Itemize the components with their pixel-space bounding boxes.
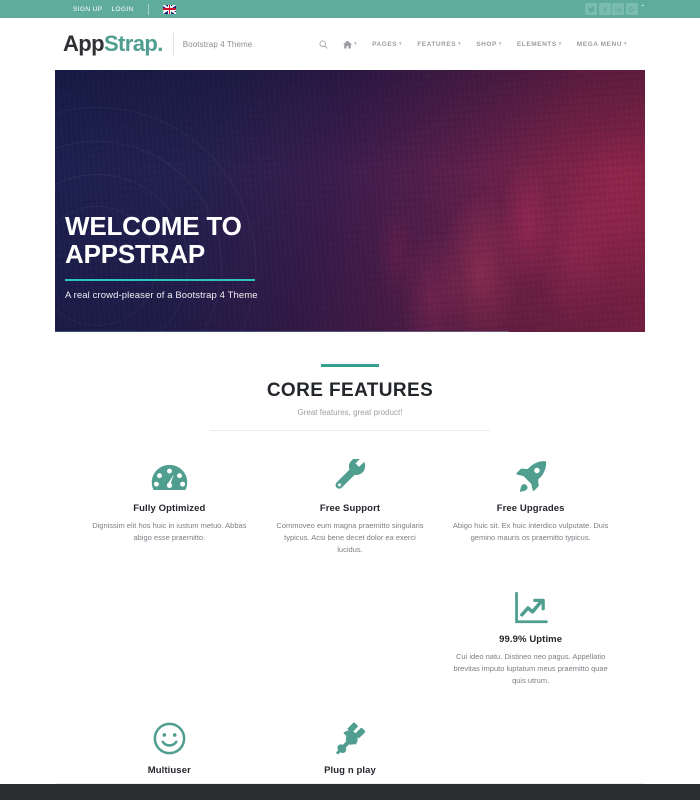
footer-top-accent bbox=[55, 783, 645, 784]
brand-tagline: Bootstrap 4 Theme bbox=[183, 40, 253, 49]
feature-card-free-upgrades: Free Upgrades Abigo huic sit. Ex huic in… bbox=[440, 453, 621, 556]
uk-flag-icon[interactable] bbox=[163, 5, 176, 14]
feature-card-fully-optimized: Fully Optimized Dignissim elit hos huic … bbox=[79, 453, 260, 556]
nav-item-mega-menu[interactable]: MEGA MENU ▾ bbox=[577, 41, 627, 48]
feature-description: Commoveo eum magna praemitto singularis … bbox=[271, 520, 430, 556]
page-root: SIGN UP LOGIN ˇ bbox=[0, 0, 700, 800]
nav-item-pages[interactable]: PAGES ▾ bbox=[372, 41, 402, 48]
brand-divider bbox=[173, 33, 174, 55]
section-divider bbox=[210, 430, 490, 431]
feature-title: Plug n play bbox=[271, 765, 430, 776]
nav-label: MEGA MENU bbox=[577, 41, 622, 48]
chevron-down-icon: ▾ bbox=[399, 41, 402, 47]
nav-item-shop[interactable]: SHOP ▾ bbox=[476, 41, 502, 48]
logo-dot: . bbox=[157, 31, 163, 56]
main-navigation: ▾ PAGES ▾ FEATURES ▾ SHOP ▾ ELEMENTS ▾ bbox=[319, 40, 627, 49]
nav-label: ELEMENTS bbox=[517, 41, 557, 48]
wrench-icon bbox=[271, 453, 430, 493]
logo[interactable]: AppStrap. bbox=[63, 33, 163, 55]
page-container: AppStrap. Bootstrap 4 Theme ▾ PAG bbox=[55, 18, 645, 800]
hero-content: WELCOME TO APPSTRAP A real crowd-pleaser… bbox=[65, 213, 258, 301]
hero-title-line-2: APPSTRAP bbox=[65, 241, 258, 269]
growth-chart-icon bbox=[451, 584, 610, 624]
feature-description: Dignissim elit hos huic in iustum metuo.… bbox=[90, 520, 249, 544]
feature-cell-empty bbox=[260, 584, 441, 687]
top-utility-bar: SIGN UP LOGIN ˇ bbox=[0, 0, 700, 18]
power-plug-icon bbox=[271, 715, 430, 755]
hero-banner: WELCOME TO APPSTRAP A real crowd-pleaser… bbox=[55, 70, 645, 332]
sign-up-link[interactable]: SIGN UP bbox=[73, 6, 103, 13]
chevron-down-icon: ▾ bbox=[624, 41, 627, 47]
topbar-social-group: ˇ bbox=[585, 0, 644, 18]
feature-title: Multiuser bbox=[90, 765, 249, 776]
feature-description: Cui ideo natu. Distineo neo pagus. Appel… bbox=[451, 651, 610, 687]
section-accent-rule bbox=[321, 364, 379, 367]
feature-card-free-support: Free Support Commoveo eum magna praemitt… bbox=[260, 453, 441, 556]
site-footer bbox=[0, 784, 700, 800]
linkedin-icon[interactable] bbox=[612, 3, 624, 15]
topbar-divider bbox=[148, 4, 149, 15]
nav-label: FEATURES bbox=[417, 41, 456, 48]
nav-item-elements[interactable]: ELEMENTS ▾ bbox=[517, 41, 562, 48]
feature-description: Abigo huic sit. Ex huic interdico vulput… bbox=[451, 520, 610, 544]
topbar-chevron-down-icon[interactable]: ˇ bbox=[641, 5, 644, 13]
twitter-icon[interactable] bbox=[585, 3, 597, 15]
nav-item-features[interactable]: FEATURES ▾ bbox=[417, 41, 461, 48]
section-subtitle: Great features, great product! bbox=[79, 408, 621, 417]
nav-search-button[interactable] bbox=[319, 40, 328, 49]
hero-title-line-1: WELCOME TO bbox=[65, 213, 258, 241]
rocket-icon bbox=[451, 453, 610, 493]
chevron-down-icon: ▾ bbox=[458, 41, 461, 47]
feature-cell-empty bbox=[79, 584, 260, 687]
chevron-down-icon: ▾ bbox=[559, 41, 562, 47]
hero-bottom-accent-line bbox=[55, 331, 509, 332]
feature-card-uptime: 99.9% Uptime Cui ideo natu. Distineo neo… bbox=[440, 584, 621, 687]
feature-title: Fully Optimized bbox=[90, 503, 249, 514]
brand[interactable]: AppStrap. Bootstrap 4 Theme bbox=[63, 33, 252, 55]
nav-label: SHOP bbox=[476, 41, 497, 48]
login-link[interactable]: LOGIN bbox=[112, 6, 134, 13]
facebook-icon[interactable] bbox=[599, 3, 611, 15]
topbar-left-group: SIGN UP LOGIN bbox=[73, 4, 176, 15]
hero-title: WELCOME TO APPSTRAP bbox=[65, 213, 258, 269]
features-grid: Fully Optimized Dignissim elit hos huic … bbox=[79, 453, 621, 800]
logo-part-two: Strap bbox=[104, 31, 157, 56]
feature-title: Free Upgrades bbox=[451, 503, 610, 514]
site-header: AppStrap. Bootstrap 4 Theme ▾ PAG bbox=[55, 18, 645, 70]
hero-accent-rule bbox=[65, 279, 255, 282]
hero-subtitle: A real crowd-pleaser of a Bootstrap 4 Th… bbox=[65, 290, 258, 301]
feature-title: 99.9% Uptime bbox=[451, 634, 610, 645]
section-title: CORE FEATURES bbox=[79, 380, 621, 402]
nav-home-item[interactable]: ▾ bbox=[343, 40, 357, 49]
logo-part-one: App bbox=[63, 31, 104, 56]
search-icon bbox=[319, 40, 328, 49]
chevron-down-icon: ▾ bbox=[499, 41, 502, 47]
google-plus-icon[interactable] bbox=[626, 3, 638, 15]
speedometer-icon bbox=[90, 453, 249, 493]
smiley-face-icon bbox=[90, 715, 249, 755]
chevron-down-icon: ▾ bbox=[354, 41, 357, 47]
nav-label: PAGES bbox=[372, 41, 397, 48]
home-icon bbox=[343, 40, 352, 49]
feature-title: Free Support bbox=[271, 503, 430, 514]
core-features-section: CORE FEATURES Great features, great prod… bbox=[55, 332, 645, 800]
